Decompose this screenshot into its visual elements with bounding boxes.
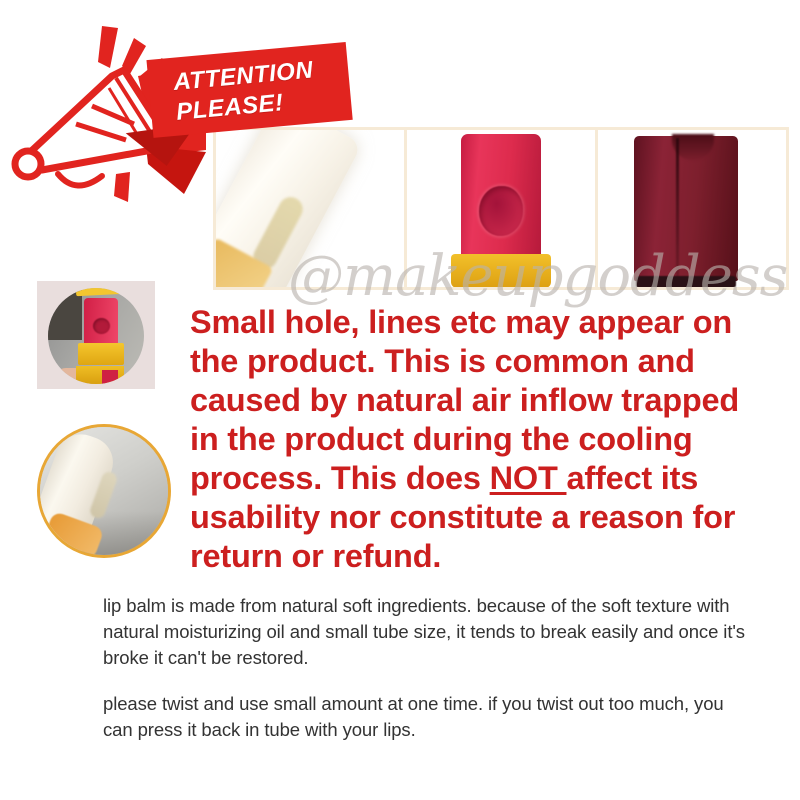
photo-strip xyxy=(213,127,789,290)
thumb-tube-label xyxy=(102,370,118,384)
body-paragraph-2: please twist and use small amount at one… xyxy=(103,691,753,743)
headline: Small hole, lines etc may appear on the … xyxy=(190,303,770,576)
photo-cell-burgundy-lipstick xyxy=(598,130,786,287)
thumb-yellow-cap xyxy=(76,288,124,296)
photo-cell-pink-lipstick xyxy=(407,130,595,287)
thumbnail-circle-mask xyxy=(48,288,144,384)
headline-emphasis-not: NOT xyxy=(490,460,567,496)
thumbnail-white-balm-stick xyxy=(37,424,171,558)
burgundy-lipstick-crack-line xyxy=(676,138,679,278)
pink-lipstick-tube-base xyxy=(451,254,551,287)
thumbnail-pink-lipstick-tube xyxy=(37,281,155,389)
thumb-yellow-tube-upper xyxy=(78,343,124,365)
product-notice-poster: ATTENTION PLEASE! @makeupgoddess xyxy=(0,0,800,800)
photo-cell-white-balm xyxy=(216,130,404,287)
burgundy-lipstick-base xyxy=(636,276,736,287)
body-copy: lip balm is made from natural soft ingre… xyxy=(103,593,753,743)
body-paragraph-1: lip balm is made from natural soft ingre… xyxy=(103,593,753,671)
thumb-pink-bullet-hole xyxy=(93,318,110,334)
pink-lipstick-hole xyxy=(479,186,523,236)
